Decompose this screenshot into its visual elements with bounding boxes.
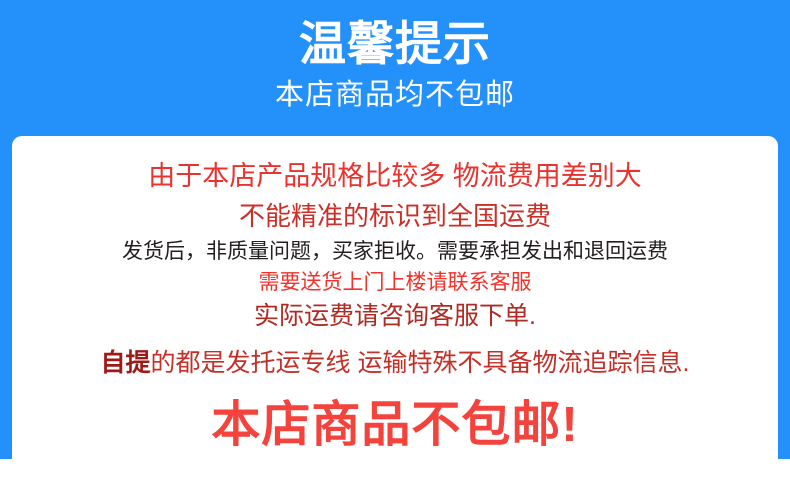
notice-line-6-emphasis: 自提 [101,349,151,377]
notice-headline: 本店商品不包邮! [12,380,778,454]
notice-panel: 由于本店产品规格比较多 物流费用差别大 不能精准的标识到全国运费 发货后，非质量… [12,136,778,483]
notice-line-1: 由于本店产品规格比较多 物流费用差别大 [12,136,778,193]
notice-line-3: 发货后，非质量问题，买家拒收。需要承担发出和退回运费 [12,233,778,266]
shipping-notice-poster: 温馨提示 本店商品均不包邮 由于本店产品规格比较多 物流费用差别大 不能精准的标… [0,0,790,483]
poster-header: 温馨提示 本店商品均不包邮 [0,0,790,136]
page-title: 温馨提示 [0,0,790,74]
notice-line-5: 实际运费请咨询客服下单. [12,296,778,332]
notice-line-6-rest: 的都是发托运专线 运输特殊不具备物流追踪信息. [151,349,690,377]
notice-line-4: 需要送货上门上楼请联系客服 [12,266,778,296]
page-subtitle: 本店商品均不包邮 [0,74,790,112]
notice-line-6: 自提的都是发托运专线 运输特殊不具备物流追踪信息. [12,332,778,380]
notice-line-2: 不能精准的标识到全国运费 [12,193,778,233]
